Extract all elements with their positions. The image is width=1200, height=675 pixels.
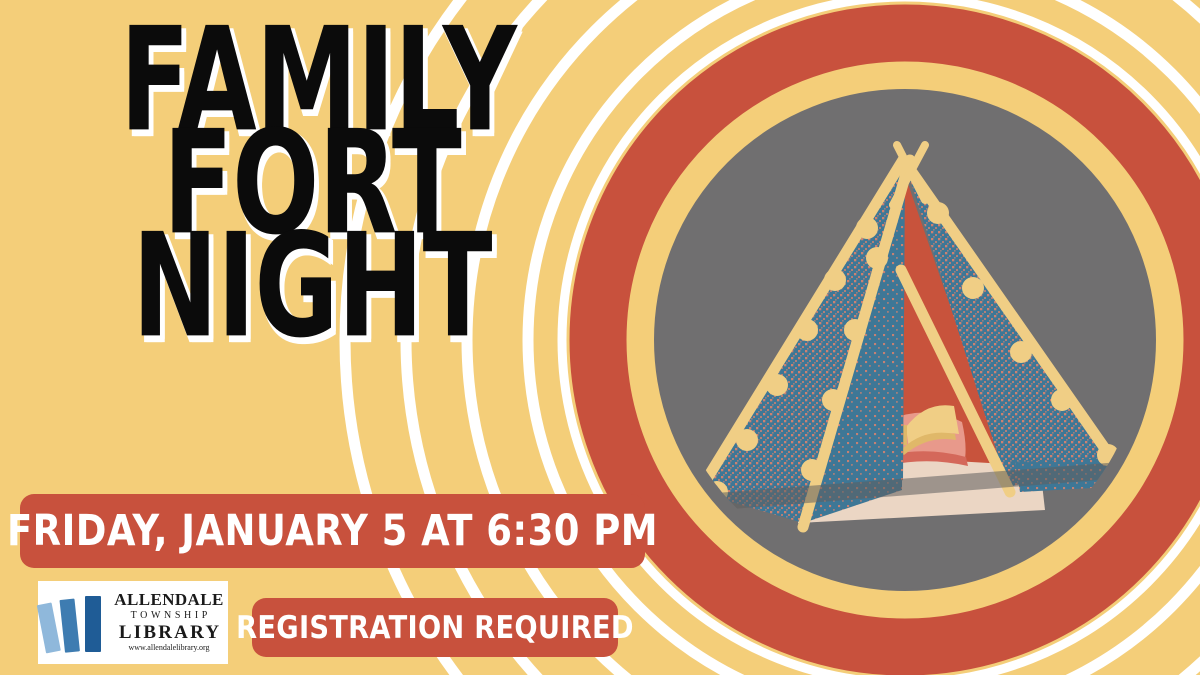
logo-name-allendale: ALLENDALE [114, 591, 224, 608]
bulb [962, 277, 984, 299]
tent-right-flap [1015, 458, 1112, 492]
tent-left-face-inner [805, 170, 905, 520]
tent-scene [690, 145, 1125, 527]
library-logo: ALLENDALE TOWNSHIP LIBRARY www.allendale… [38, 581, 228, 664]
gray-disc-background [655, 90, 1155, 590]
tent-ground-shadow [690, 462, 1125, 512]
pillow-shadow [882, 451, 968, 467]
outer-white-ring-1 [528, 0, 1200, 675]
bulb [1010, 341, 1032, 363]
title-line-night: NIGHT [120, 220, 504, 353]
open-book-left-page [852, 404, 903, 449]
pole-right-inner [901, 270, 1010, 492]
bulb [796, 319, 818, 341]
bulb [801, 459, 823, 481]
bulb [766, 374, 788, 396]
event-date-text: FRIDAY, JANUARY 5 AT 6:30 PM [7, 506, 658, 556]
tent-interior [800, 175, 1010, 480]
tent-floor-mat [800, 470, 1042, 523]
tent-right-panel [907, 170, 1112, 487]
white-ring-outside-red [562, 0, 1200, 675]
gray-disc-rim [655, 90, 1155, 590]
string-light-bulbs [706, 202, 1119, 503]
open-book-spine [902, 425, 907, 445]
registration-required-badge: REGISTRATION REQUIRED [252, 598, 618, 657]
poster-canvas: FAMILY FORT NIGHT FRIDAY, JANUARY 5 AT 6… [0, 0, 1200, 675]
bulb [1051, 389, 1073, 411]
open-book-right-page [906, 405, 959, 449]
red-ring [598, 33, 1200, 647]
page-title: FAMILY FORT NIGHT [72, 14, 552, 339]
pole-right-edge [907, 165, 1115, 463]
bulb [822, 389, 844, 411]
tent-left-panel-front [806, 172, 903, 522]
event-date-banner: FRIDAY, JANUARY 5 AT 6:30 PM [20, 494, 645, 568]
bulb [927, 202, 949, 224]
bulb [736, 429, 758, 451]
book-icon-dark-blue [85, 596, 101, 652]
library-logo-text: ALLENDALE TOWNSHIP LIBRARY www.allendale… [110, 591, 228, 655]
logo-name-township: TOWNSHIP [114, 608, 224, 623]
inner-yellow-ring [643, 78, 1167, 602]
logo-name-library: LIBRARY [114, 623, 224, 642]
logo-website: www.allendalelibrary.org [114, 642, 224, 655]
pole-center [803, 160, 910, 527]
tent-left-face [697, 170, 905, 522]
tent-pole-lines [697, 160, 1115, 527]
outer-white-ring-2 [467, 0, 1200, 675]
book-icon-medium-blue [60, 598, 80, 652]
registration-required-text: REGISTRATION REQUIRED [236, 610, 634, 646]
tent-floor-mat-2 [798, 452, 1045, 523]
bulb [856, 217, 878, 239]
bulb [844, 319, 866, 341]
bulb [706, 481, 728, 503]
pole-left-edge [697, 160, 903, 495]
tent-apex-crossed-poles [893, 145, 925, 205]
tent-left-panel [700, 168, 903, 520]
bulb [866, 247, 888, 269]
books-icon [44, 590, 110, 656]
book-icon-light-blue [37, 602, 61, 653]
open-book-edge [851, 433, 956, 455]
bulb [824, 269, 846, 291]
bulb [1097, 444, 1119, 466]
pillow [884, 412, 966, 464]
